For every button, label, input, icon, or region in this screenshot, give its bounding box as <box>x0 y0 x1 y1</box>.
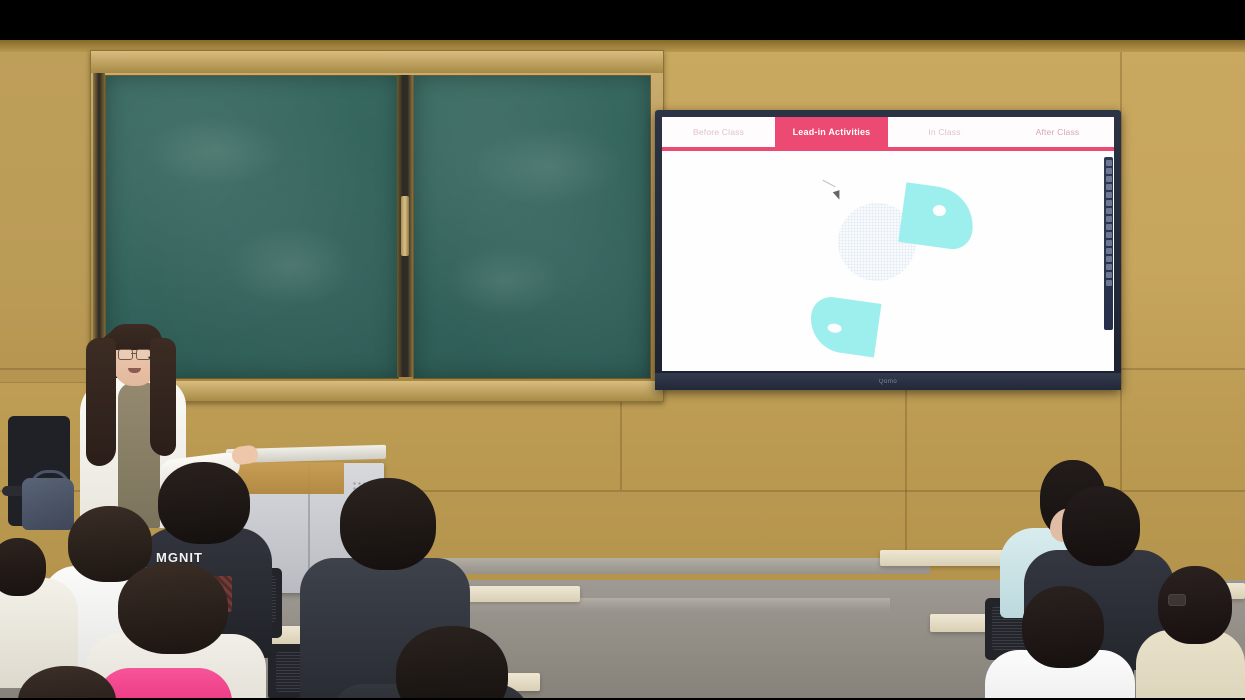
more-icon[interactable] <box>1106 280 1112 286</box>
student-desk <box>460 586 580 602</box>
tab-in-class[interactable]: In Class <box>888 117 1001 147</box>
tab-label: Lead-in Activities <box>793 127 871 137</box>
platform-step <box>430 558 930 574</box>
arc-segment-bottom <box>807 295 882 358</box>
display-bezel-bottom: Qomo <box>655 373 1121 390</box>
highlighter-icon[interactable] <box>1106 200 1112 206</box>
chalkboard-rail-top <box>91 51 663 73</box>
arc-hole <box>827 323 842 334</box>
select-icon[interactable] <box>1106 176 1112 182</box>
tab-label: In Class <box>928 127 960 137</box>
slide-content <box>662 151 1114 371</box>
image-icon[interactable] <box>1106 240 1112 246</box>
capture-icon[interactable] <box>1106 272 1112 278</box>
whiteboard-screen[interactable]: Before Class Lead-in Activities In Class… <box>662 117 1114 371</box>
pen-icon[interactable] <box>1106 160 1112 166</box>
undo-icon[interactable] <box>1106 208 1112 214</box>
eraser-icon[interactable] <box>1106 168 1112 174</box>
chalkboard <box>90 50 664 402</box>
screenshot-stage: Before Class Lead-in Activities In Class… <box>0 0 1245 700</box>
shape-icon[interactable] <box>1106 184 1112 190</box>
link-icon[interactable] <box>1106 248 1112 254</box>
arc-segment-top <box>898 182 978 251</box>
text-icon[interactable] <box>1106 192 1112 198</box>
classroom-scene: Before Class Lead-in Activities In Class… <box>0 38 1245 700</box>
slide-tab-bar: Before Class Lead-in Activities In Class… <box>662 117 1114 147</box>
cursor-trail <box>823 180 836 187</box>
zoom-icon[interactable] <box>1106 224 1112 230</box>
glasses-bridge <box>131 353 136 354</box>
tab-label: After Class <box>1036 127 1080 137</box>
teacher-hair-strand <box>150 338 176 456</box>
redo-icon[interactable] <box>1106 216 1112 222</box>
page-icon[interactable] <box>1106 256 1112 262</box>
mouse-cursor-icon <box>833 190 842 201</box>
teacher-hair-strand <box>86 338 116 466</box>
whiteboard-toolbar[interactable] <box>1104 157 1113 330</box>
tab-lead-in-activities[interactable]: Lead-in Activities <box>775 117 888 147</box>
tab-before-class[interactable]: Before Class <box>662 117 775 147</box>
wall-seam <box>905 370 907 570</box>
display-brand-label: Qomo <box>879 379 897 385</box>
letterbox-top <box>0 0 1245 40</box>
interactive-whiteboard[interactable]: Before Class Lead-in Activities In Class… <box>655 110 1121 390</box>
settings-icon[interactable] <box>1106 264 1112 270</box>
tab-after-class[interactable]: After Class <box>1001 117 1114 147</box>
arc-hole <box>932 204 946 217</box>
wall-panel <box>0 52 93 383</box>
chalkboard-panel-right <box>413 75 651 379</box>
grid-icon[interactable] <box>1106 232 1112 238</box>
lectern-front-panel <box>236 462 344 494</box>
chalkboard-handle[interactable] <box>401 196 409 256</box>
chalkboard-left-edge <box>93 73 105 379</box>
backpack <box>22 478 74 530</box>
glasses-icon <box>118 349 133 360</box>
tab-label: Before Class <box>693 127 744 137</box>
